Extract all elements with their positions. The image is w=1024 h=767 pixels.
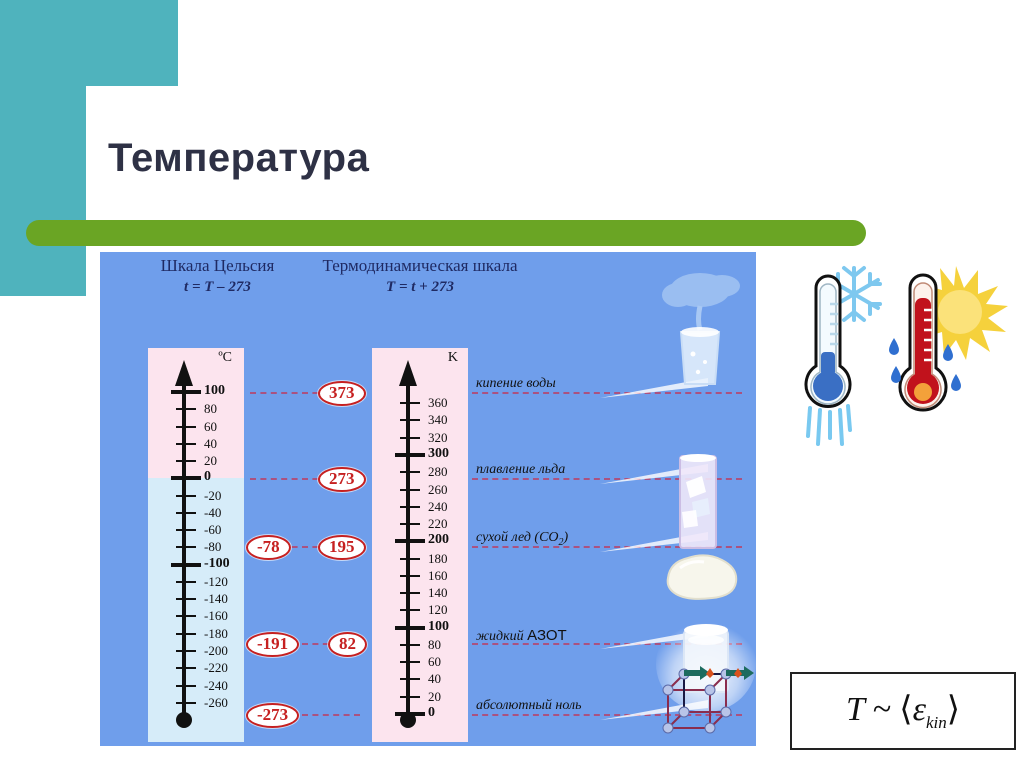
scale-tick xyxy=(176,529,196,531)
celsius-callout-minus273: -273 xyxy=(246,703,299,728)
scale-tick-label: 220 xyxy=(428,516,468,532)
phenomenon-label: кипение воды xyxy=(476,376,556,392)
celsius-formula: t = T – 273 xyxy=(110,279,325,296)
scale-tick-label: 360 xyxy=(428,395,468,411)
scale-tick xyxy=(171,390,201,394)
scale-tick xyxy=(171,563,201,567)
scale-tick xyxy=(400,523,420,525)
scale-tick-label: -180 xyxy=(204,626,244,642)
boiling-water-glass-icon xyxy=(648,262,752,392)
scale-tick xyxy=(400,696,420,698)
scale-tick-label: -140 xyxy=(204,591,244,607)
scale-tick-label: 40 xyxy=(428,671,468,687)
scale-tick xyxy=(395,626,425,630)
scale-tick xyxy=(176,512,196,514)
scale-tick-label: -80 xyxy=(204,539,244,555)
scale-tick xyxy=(395,453,425,457)
kelvin-thermometer: K 36034032030028026024022020018016014012… xyxy=(372,348,468,742)
celsius-scale-header: Шкала Цельсия t = T – 273 xyxy=(110,256,325,296)
scale-tick-label: 120 xyxy=(428,602,468,618)
scale-tick-label: 80 xyxy=(204,401,244,417)
scale-tick xyxy=(400,402,420,404)
formula-subscript: kin xyxy=(926,713,947,732)
scale-tick-label: 60 xyxy=(428,654,468,670)
formula-bracket-open: ⟨ xyxy=(899,691,912,728)
scale-tick xyxy=(176,685,196,687)
scale-tick xyxy=(176,633,196,635)
scale-tick-label: 0 xyxy=(204,469,244,485)
celsius-callout-minus78: -78 xyxy=(246,535,291,560)
kinetic-energy-formula: T~⟨εkin⟩ xyxy=(846,689,960,733)
scale-tick-label: -220 xyxy=(204,660,244,676)
kelvin-callout-82: 82 xyxy=(328,632,367,657)
formula-relation: ~ xyxy=(865,691,899,728)
scale-tick xyxy=(400,661,420,663)
scale-tick xyxy=(176,615,196,617)
celsius-arrowhead xyxy=(175,360,193,386)
scale-tick xyxy=(400,575,420,577)
scale-tick xyxy=(176,546,196,548)
scale-tick-label: -60 xyxy=(204,522,244,538)
phenomenon-label: абсолютный ноль xyxy=(476,698,581,714)
scale-tick xyxy=(400,437,420,439)
formula-bracket-close: ⟩ xyxy=(947,691,960,728)
slide-canvas: Температура Шкала Цельсия t = T – 273 Те… xyxy=(0,0,1024,767)
teal-top-block xyxy=(86,0,178,86)
scale-tick-label: 160 xyxy=(428,568,468,584)
phenomenon-label: жидкий АЗОТ xyxy=(476,627,567,645)
scale-tick-label: 60 xyxy=(204,419,244,435)
scale-tick-label: -120 xyxy=(204,574,244,590)
scale-tick xyxy=(400,609,420,611)
scale-tick-label: -160 xyxy=(204,608,244,624)
phenomenon-label: сухой лед (CO2) xyxy=(476,530,568,548)
page-title: Температура xyxy=(108,136,369,181)
temperature-scales-diagram: Шкала Цельсия t = T – 273 Термодинамичес… xyxy=(100,252,756,746)
formula-epsilon: ε xyxy=(913,691,926,728)
scale-tick-label: 140 xyxy=(428,585,468,601)
scale-tick-label: 180 xyxy=(428,551,468,567)
scale-tick xyxy=(176,460,196,462)
scale-tick-label: 300 xyxy=(428,446,468,462)
scale-tick xyxy=(171,476,201,480)
kelvin-unit-label: K xyxy=(448,350,458,366)
scale-tick-label: 40 xyxy=(204,436,244,452)
scale-tick-label: -40 xyxy=(204,505,244,521)
scale-tick xyxy=(400,471,420,473)
scale-tick xyxy=(400,644,420,646)
scale-tick xyxy=(176,650,196,652)
celsius-callout-minus191: -191 xyxy=(246,632,299,657)
scale-tick xyxy=(400,419,420,421)
scale-tick-label: 320 xyxy=(428,430,468,446)
scale-tick-label: 20 xyxy=(204,453,244,469)
scale-tick-label: 100 xyxy=(428,619,468,635)
scale-tick-label: 20 xyxy=(428,689,468,705)
crystal-lattice-icon xyxy=(654,656,756,740)
scale-tick xyxy=(400,592,420,594)
teal-left-bar xyxy=(0,0,86,296)
scale-tick xyxy=(400,506,420,508)
scale-tick xyxy=(176,702,196,704)
scale-tick-label: 280 xyxy=(428,464,468,480)
scale-tick-label: -100 xyxy=(204,556,244,572)
scale-tick-label: 200 xyxy=(428,532,468,548)
scale-tick xyxy=(395,539,425,543)
kelvin-arrowhead xyxy=(399,360,417,386)
scale-tick-label: 100 xyxy=(204,383,244,399)
scale-tick xyxy=(400,678,420,680)
scale-tick-label: -240 xyxy=(204,678,244,694)
scale-tick-label: -20 xyxy=(204,488,244,504)
kelvin-callout-273: 273 xyxy=(318,467,366,492)
scale-tick xyxy=(176,667,196,669)
kelvin-formula: T = t + 273 xyxy=(305,279,535,296)
scale-tick-label: 240 xyxy=(428,499,468,515)
celsius-thermometer: ºC 100806040200-20-40-60-80-100-120-140-… xyxy=(148,348,244,742)
scale-tick xyxy=(400,558,420,560)
scale-tick xyxy=(176,495,196,497)
scale-tick-label: 340 xyxy=(428,412,468,428)
phenomenon-label: плавление льда xyxy=(476,462,565,478)
scale-tick-label: 260 xyxy=(428,482,468,498)
celsius-unit-label: ºC xyxy=(218,350,232,366)
scale-tick xyxy=(176,443,196,445)
celsius-bulb xyxy=(176,712,192,728)
green-accent-bar xyxy=(26,220,866,246)
kinetic-energy-formula-box: T~⟨εkin⟩ xyxy=(790,672,1016,750)
kelvin-stem xyxy=(406,384,410,720)
kelvin-scale-header: Термодинамическая шкала T = t + 273 xyxy=(305,256,535,296)
scale-tick xyxy=(176,408,196,410)
hot-thermometer-sun-icon xyxy=(882,258,1014,444)
scale-tick xyxy=(176,426,196,428)
scale-tick-label: -260 xyxy=(204,695,244,711)
scale-tick-label: 80 xyxy=(428,637,468,653)
scale-tick-label: -200 xyxy=(204,643,244,659)
kelvin-scale-name: Термодинамическая шкала xyxy=(305,256,535,275)
formula-lhs: T xyxy=(846,691,865,728)
celsius-stem xyxy=(182,384,186,720)
scale-tick-label: 0 xyxy=(428,705,468,721)
kelvin-callout-195: 195 xyxy=(318,535,366,560)
scale-tick xyxy=(400,489,420,491)
scale-tick xyxy=(176,581,196,583)
scale-tick xyxy=(176,598,196,600)
celsius-scale-name: Шкала Цельсия xyxy=(110,256,325,275)
scale-tick xyxy=(395,712,425,716)
kelvin-callout-373: 373 xyxy=(318,381,366,406)
